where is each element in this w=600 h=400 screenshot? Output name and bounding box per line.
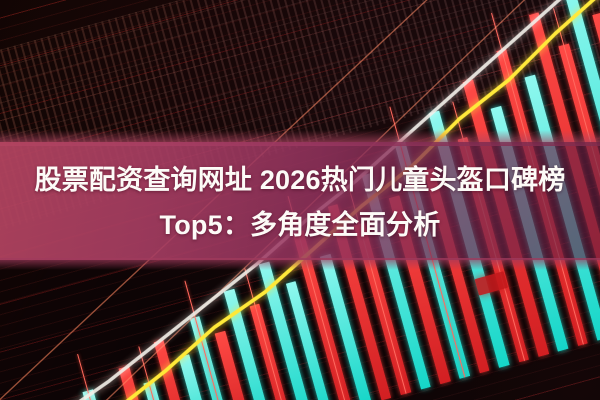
page-title: 股票配资查询网址 2026热门儿童头盔口碑榜Top5：多角度全面分析	[0, 158, 600, 248]
banner-image: 股票配资查询网址 2026热门儿童头盔口碑榜Top5：多角度全面分析	[0, 0, 600, 400]
title-band-bottom-fade	[0, 258, 600, 270]
